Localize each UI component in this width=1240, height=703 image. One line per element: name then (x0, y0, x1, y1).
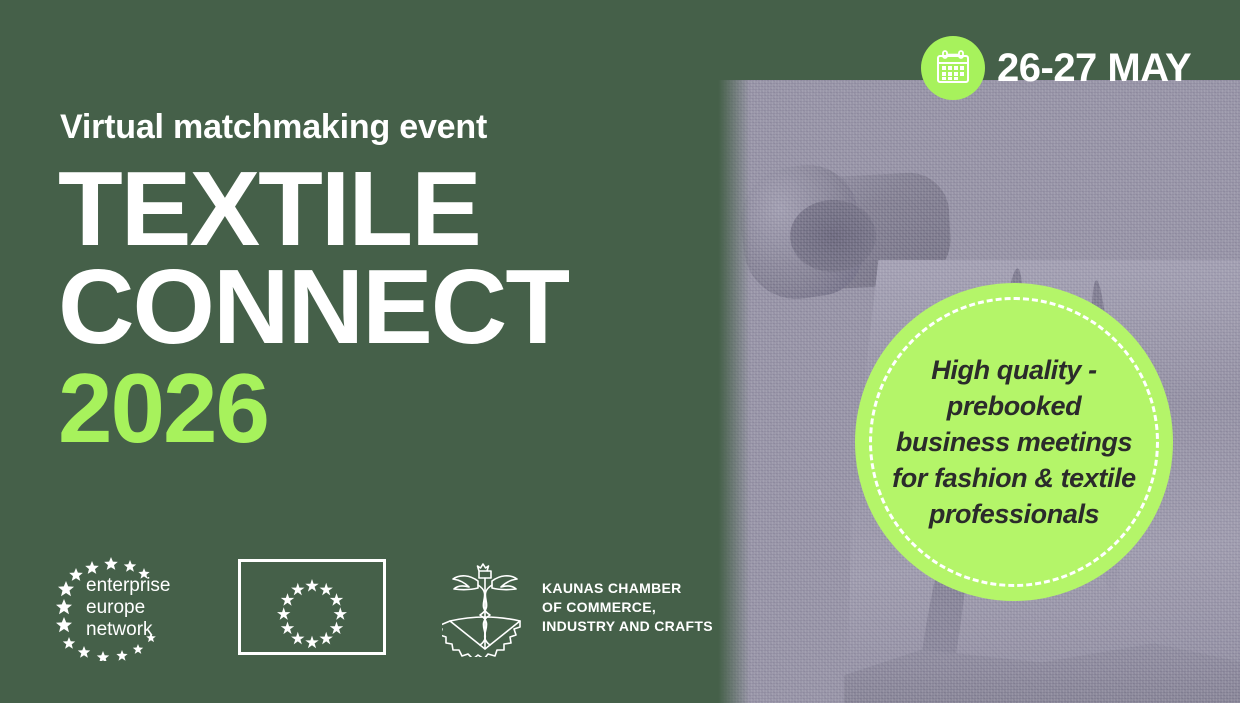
kaunas-chamber-wordmark: KAUNAS CHAMBER OF COMMERCE, INDUSTRY AND… (542, 579, 713, 636)
caduceus-gear-icon (442, 557, 528, 657)
enterprise-europe-network-logo: enterprise europe network (56, 553, 180, 661)
european-union-flag (238, 559, 386, 655)
headline-line-2: CONNECT (58, 258, 568, 356)
eu-stars-icon (241, 562, 383, 652)
event-kicker: Virtual matchmaking event (60, 108, 487, 147)
headline-line-1: TEXTILE (58, 160, 568, 258)
event-date-text: 26-27 MAY (997, 46, 1191, 91)
tagline-line-1: High quality - (892, 352, 1136, 388)
kaunas-chamber-logo: KAUNAS CHAMBER OF COMMERCE, INDUSTRY AND… (442, 557, 713, 657)
event-date-pill: 26-27 MAY (921, 36, 1191, 100)
page-title: TEXTILE CONNECT (58, 160, 568, 356)
tagline-text: High quality - prebooked business meetin… (874, 352, 1154, 532)
een-wordmark: enterprise europe network (86, 575, 171, 641)
tagline-line-3: business meetings (892, 424, 1136, 460)
tagline-line-5: professionals (892, 496, 1136, 532)
calendar-icon-circle (921, 36, 985, 100)
tagline-badge: High quality - prebooked business meetin… (855, 283, 1173, 601)
kaunas-line-2: OF COMMERCE, (542, 598, 713, 617)
tagline-line-2: prebooked (892, 388, 1136, 424)
een-line-1: enterprise (86, 575, 171, 597)
event-year: 2026 (58, 362, 268, 454)
promo-banner: Virtual matchmaking event TEXTILE CONNEC… (0, 0, 1240, 703)
tagline-line-4: for fashion & textile (892, 460, 1136, 496)
een-line-2: europe (86, 597, 171, 619)
kaunas-line-1: KAUNAS CHAMBER (542, 579, 713, 598)
een-line-3: network (86, 619, 171, 641)
partner-logo-row: enterprise europe network (56, 553, 713, 661)
kaunas-line-3: INDUSTRY AND CRAFTS (542, 617, 713, 636)
calendar-icon (933, 48, 973, 88)
